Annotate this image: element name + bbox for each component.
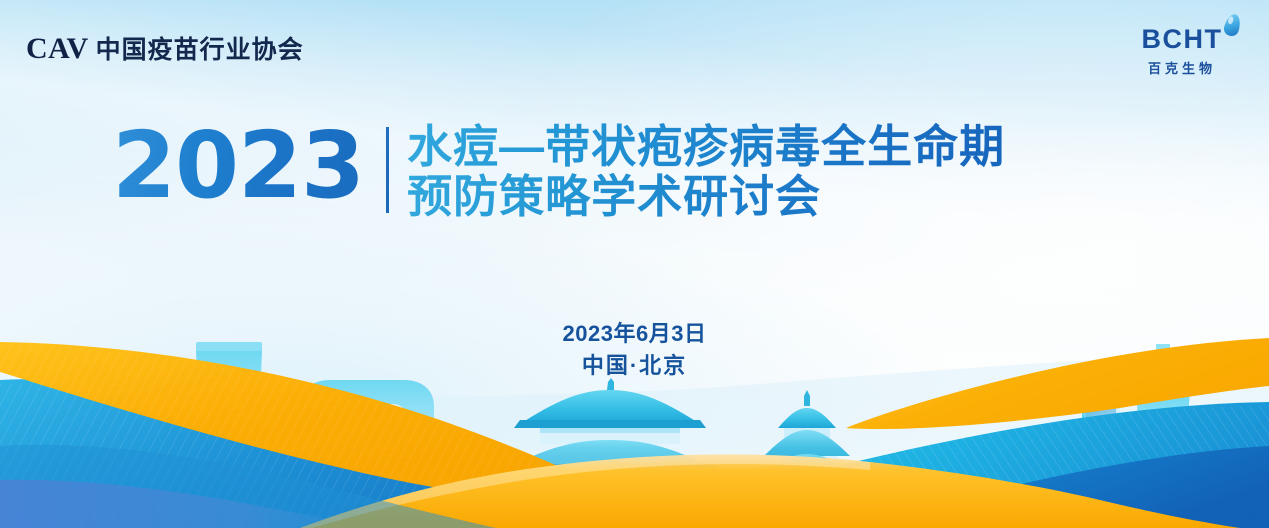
conference-location: 中国·北京 [0, 350, 1269, 382]
cav-association-logo: CAV 中国疫苗行业协会 [26, 30, 304, 66]
cav-association-name: 中国疫苗行业协会 [96, 30, 304, 66]
conference-title-line-1: 水痘—带状疱疹病毒全生命期 [407, 123, 1005, 171]
bcht-company-name-cn: 百克生物 [1123, 58, 1241, 77]
title-divider [386, 127, 389, 213]
water-drop-icon [1222, 12, 1242, 37]
conference-date: 2023年6月3日 [0, 318, 1269, 350]
conference-title-text: 水痘—带状疱疹病毒全生命期 预防策略学术研讨会 [407, 121, 1005, 221]
conference-year: 2023 [112, 121, 368, 211]
conference-banner: CAV 中国疫苗行业协会 BCHT 百克生物 2023 水痘—带状疱疹病毒全生命… [0, 0, 1269, 528]
conference-title-block: 2023 水痘—带状疱疹病毒全生命期 预防策略学术研讨会 [112, 121, 1005, 221]
bcht-company-logo: BCHT 百克生物 [1123, 26, 1241, 77]
conference-title-line-2: 预防策略学术研讨会 [407, 173, 1005, 221]
cav-mark-text: CAV [26, 32, 89, 66]
bcht-wordmark: BCHT [1142, 24, 1223, 54]
bcht-mark: BCHT [1142, 26, 1223, 53]
conference-meta: 2023年6月3日 中国·北京 [0, 318, 1269, 382]
